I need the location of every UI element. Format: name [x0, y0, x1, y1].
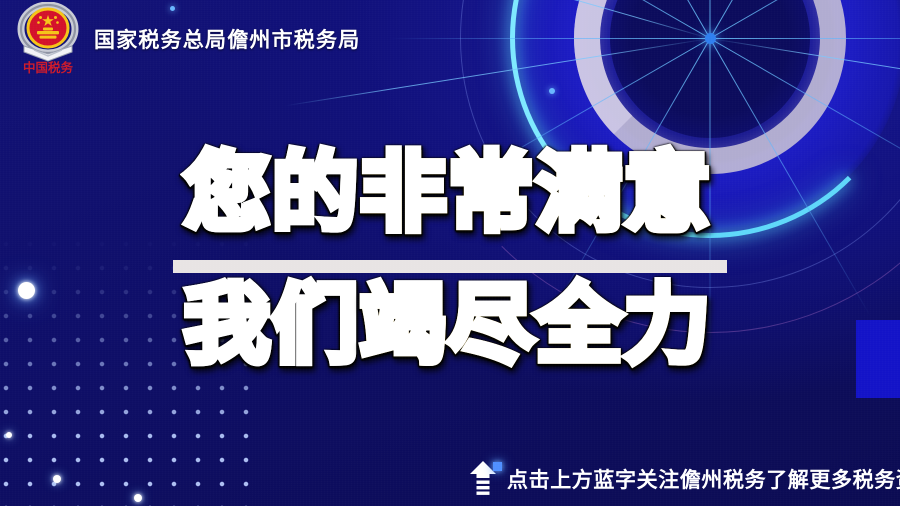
- headline-line-2: 我们 竭尽全力: [184, 282, 724, 370]
- headline-line1-gold: 非常满意: [360, 150, 712, 238]
- headline-line1-silver: 您的: [184, 150, 360, 238]
- china-taxation-emblem-icon: 中国税务: [12, 2, 84, 76]
- headline-line-1: 您的 非常满意: [184, 150, 724, 238]
- glow-dot-small-a: [53, 475, 61, 483]
- arrow-accent-dot: [493, 462, 502, 471]
- emblem-caption: 中国税务: [23, 60, 74, 75]
- poster-canvas: 中国税务 国家税务总局儋州市税务局 您的 非常满意 我们 竭尽全力 点击上方蓝字…: [0, 0, 900, 506]
- follow-cta-text: 点击上方蓝字关注儋州税务了解更多税务资讯: [507, 464, 900, 494]
- headline-line2-silver: 我们: [184, 282, 360, 370]
- glow-dot-small-b: [134, 494, 142, 502]
- headline-divider: [173, 260, 727, 273]
- header: 中国税务 国家税务总局儋州市税务局: [0, 0, 360, 78]
- organization-name: 国家税务总局儋州市税务局: [94, 24, 360, 54]
- radar-spoke-0: [710, 38, 900, 39]
- glow-dot-small-c: [6, 432, 12, 438]
- glow-dot-large: [18, 282, 35, 299]
- follow-cta[interactable]: 点击上方蓝字关注儋州税务了解更多税务资讯: [468, 459, 900, 499]
- stray-glow-dot-upper: [549, 88, 555, 94]
- arrow-up-icon: [468, 460, 498, 498]
- right-accent-block: [856, 320, 900, 398]
- radar-spoke-6: [390, 38, 710, 39]
- headline-line2-gold: 竭尽全力: [360, 282, 712, 370]
